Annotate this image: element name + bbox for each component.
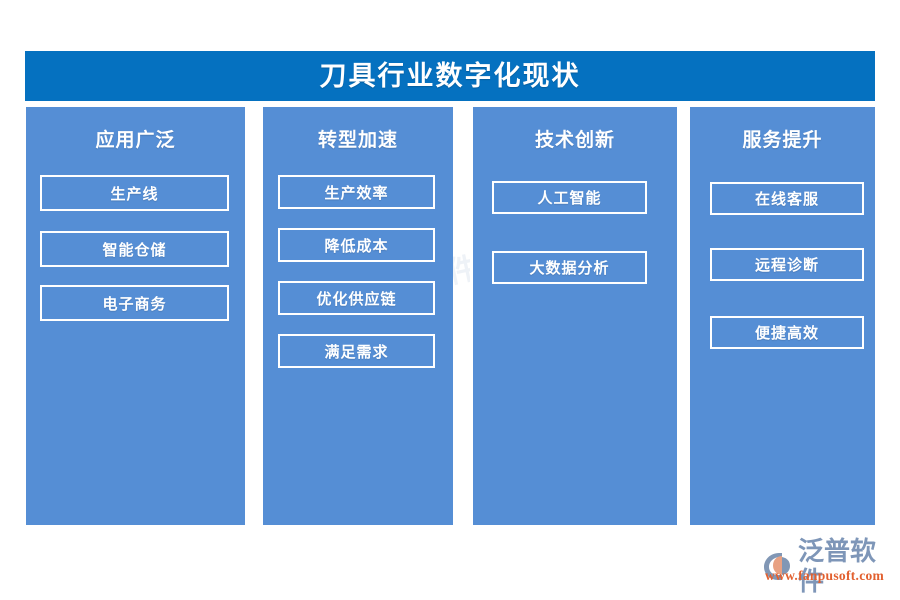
column-panel-4: 服务提升 在线客服 远程诊断 便捷高效 [690, 107, 875, 525]
slide-canvas: 泛普软件 SOFTWARE 刀具行业数字化现状 应用广泛 生产线 智能仓储 电子… [0, 0, 900, 600]
item-box-2-4[interactable]: 满足需求 [278, 334, 435, 368]
column-header-3: 技术创新 [473, 125, 677, 152]
item-box-2-3[interactable]: 优化供应链 [278, 281, 435, 315]
item-box-1-3[interactable]: 电子商务 [40, 285, 229, 321]
item-box-2-1[interactable]: 生产效率 [278, 175, 435, 209]
item-box-3-1[interactable]: 人工智能 [492, 181, 647, 214]
logo-website-url: www.fanpusoft.com [765, 568, 884, 584]
page-title: 刀具行业数字化现状 [320, 63, 581, 90]
logo-row: 泛普软件 [762, 536, 894, 596]
logo-company-name: 泛普软件 [798, 536, 894, 596]
item-box-3-2[interactable]: 大数据分析 [492, 251, 647, 284]
item-box-1-2[interactable]: 智能仓储 [40, 231, 229, 267]
column-header-4: 服务提升 [690, 125, 875, 152]
item-box-4-3[interactable]: 便捷高效 [710, 316, 864, 349]
column-header-1: 应用广泛 [26, 125, 245, 152]
item-box-4-1[interactable]: 在线客服 [710, 182, 864, 215]
item-box-2-2[interactable]: 降低成本 [278, 228, 435, 262]
item-box-4-2[interactable]: 远程诊断 [710, 248, 864, 281]
column-panel-1: 应用广泛 生产线 智能仓储 电子商务 [26, 107, 245, 525]
item-box-1-1[interactable]: 生产线 [40, 175, 229, 211]
column-panel-2: 转型加速 生产效率 降低成本 优化供应链 满足需求 [263, 107, 453, 525]
company-logo: 泛普软件 www.fanpusoft.com [762, 536, 894, 588]
column-header-2: 转型加速 [263, 125, 453, 152]
title-banner: 刀具行业数字化现状 [25, 51, 875, 101]
column-panel-3: 技术创新 人工智能 大数据分析 [473, 107, 677, 525]
